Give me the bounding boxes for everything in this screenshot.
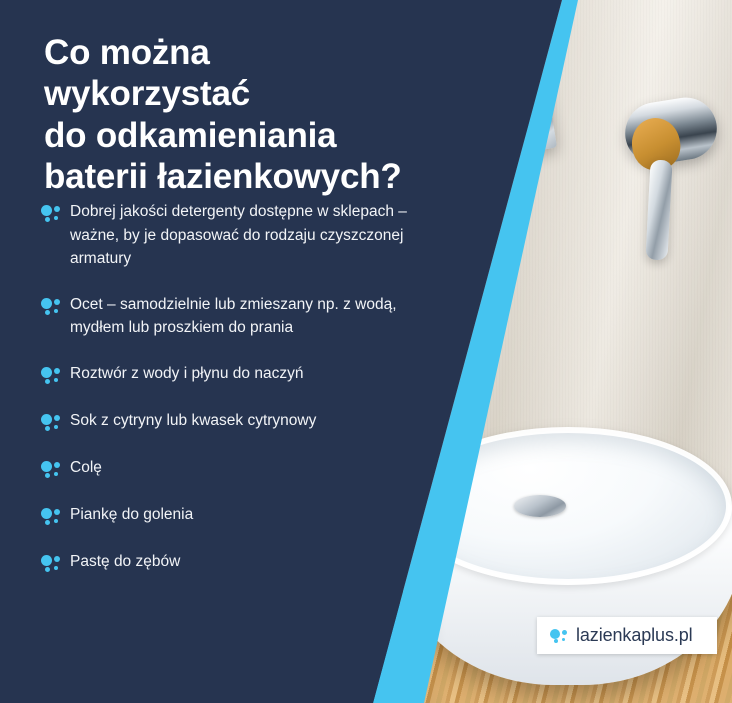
blue-dots-icon (40, 506, 62, 528)
brand-name: lazienkaplus.pl (576, 625, 693, 646)
title-line-2: do odkamieniania (44, 115, 404, 156)
blue-dots-icon (40, 412, 62, 434)
list-item-label: Colę (70, 456, 102, 480)
content-area: Co można wykorzystać do odkamieniania ba… (0, 0, 420, 703)
list-item: Pastę do zębów (40, 550, 418, 575)
blue-dots-icon (40, 296, 62, 318)
title-line-1: Co można wykorzystać (44, 32, 404, 115)
list-item: Ocet – samodzielnie lub zmieszany np. z … (40, 293, 418, 340)
list-item-label: Pastę do zębów (70, 550, 180, 574)
list-item: Sok z cytryny lub kwasek cytrynowy (40, 409, 418, 434)
list-item: Colę (40, 456, 418, 481)
list-item-label: Roztwór z wody i płynu do naczyń (70, 362, 303, 386)
blue-dots-icon (40, 459, 62, 481)
list-item: Dobrej jakości detergenty dostępne w skl… (40, 200, 418, 271)
basin-drain-cover (514, 495, 566, 517)
list-item-label: Piankę do golenia (70, 503, 193, 527)
blue-dots-icon (549, 626, 569, 646)
list-item-label: Dobrej jakości detergenty dostępne w skl… (70, 200, 410, 271)
bullet-list: Dobrej jakości detergenty dostępne w skl… (40, 200, 418, 597)
list-item-label: Sok z cytryny lub kwasek cytrynowy (70, 409, 316, 433)
list-item-label: Ocet – samodzielnie lub zmieszany np. z … (70, 293, 410, 340)
blue-dots-icon (40, 553, 62, 575)
infographic-canvas: Co można wykorzystać do odkamieniania ba… (0, 0, 732, 703)
blue-dots-icon (40, 365, 62, 387)
page-title: Co można wykorzystać do odkamieniania ba… (44, 32, 404, 197)
brand-badge[interactable]: lazienkaplus.pl (537, 617, 717, 654)
list-item: Roztwór z wody i płynu do naczyń (40, 362, 418, 387)
title-line-3: baterii łazienkowych? (44, 156, 404, 197)
blue-dots-icon (40, 203, 62, 225)
list-item: Piankę do golenia (40, 503, 418, 528)
